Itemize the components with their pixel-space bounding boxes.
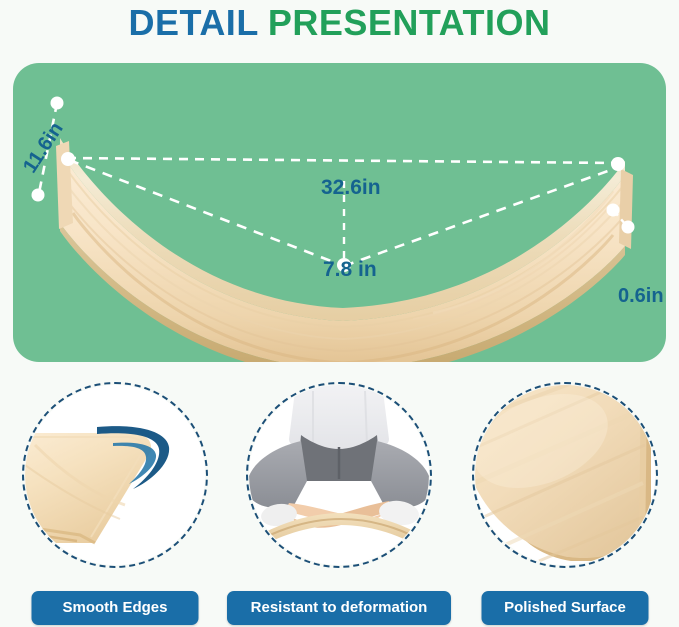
feature-row: Smooth Edges: [0, 382, 679, 627]
dashed-ring: [472, 382, 658, 568]
length-label: 32.6in: [321, 176, 381, 200]
feature-image-circle: [22, 382, 208, 568]
feature-polished-surface: Polished Surface: [452, 382, 678, 627]
infographic-root: DETAILPRESENTATION: [0, 0, 679, 627]
length-dimension-line: [67, 158, 617, 163]
page-title-part-1: DETAIL: [128, 2, 258, 43]
dim-dot-thickness-top: [607, 204, 620, 217]
dashed-ring: [246, 382, 432, 568]
feature-label-resistant-to-deformation: Resistant to deformation: [227, 591, 451, 625]
feature-label-smooth-edges: Smooth Edges: [32, 591, 199, 625]
dim-dot-left-corner: [61, 152, 75, 166]
dashed-ring: [22, 382, 208, 568]
height-label: 7.8 in: [323, 258, 377, 282]
feature-label-polished-surface: Polished Surface: [482, 591, 649, 625]
feature-smooth-edges: Smooth Edges: [2, 382, 228, 627]
page-title-part-2: PRESENTATION: [268, 2, 551, 43]
dim-dot-right-corner: [611, 157, 625, 171]
page-title: DETAILPRESENTATION: [0, 2, 679, 44]
board-right-tip: [619, 169, 633, 249]
dim-dot-width-bottom: [32, 189, 45, 202]
feature-resistant-to-deformation: Resistant to deformation: [226, 382, 452, 627]
hero-panel: 32.6in 7.8 in 11.6in 0.6in: [13, 63, 666, 362]
feature-image-circle: [246, 382, 432, 568]
thickness-label: 0.6in: [618, 285, 664, 308]
balance-board-illustration: [13, 63, 666, 362]
dim-dot-thickness-bottom: [622, 221, 635, 234]
dim-dot-width-top: [51, 97, 64, 110]
feature-image-circle: [472, 382, 658, 568]
